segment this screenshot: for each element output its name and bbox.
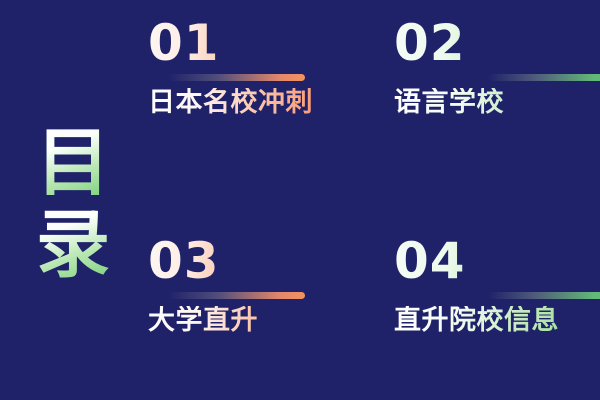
toc-entry-01-rule xyxy=(168,74,305,81)
toc-entry-03-number: 03 xyxy=(148,236,305,286)
toc-entry-01[interactable]: 01 日本名校冲刺 xyxy=(148,18,313,118)
toc-entry-03[interactable]: 03 大学直升 xyxy=(148,236,305,336)
toc-heading: 目 录 xyxy=(18,128,128,281)
toc-entry-02-label: 语言学校 xyxy=(394,88,600,118)
toc-heading-char-2: 录 xyxy=(36,210,110,280)
toc-entry-04-number: 04 xyxy=(394,236,600,286)
toc-entry-03-label: 大学直升 xyxy=(148,306,305,336)
toc-entry-02-rule xyxy=(488,74,600,81)
toc-entry-01-label: 日本名校冲刺 xyxy=(148,88,313,118)
toc-entry-04[interactable]: 04 直升院校信息 xyxy=(394,236,600,336)
toc-entry-03-rule xyxy=(168,292,305,299)
toc-entry-02[interactable]: 02 语言学校 xyxy=(394,18,600,118)
toc-entry-02-number: 02 xyxy=(394,18,600,68)
toc-heading-char-1: 目 xyxy=(36,128,110,198)
toc-entry-04-rule xyxy=(488,292,600,299)
toc-entry-04-label: 直升院校信息 xyxy=(394,306,600,336)
table-of-contents-slide: 目 录 01 日本名校冲刺 02 语言学校 03 大学直升 04 直升院校信息 xyxy=(0,0,600,400)
toc-entry-01-number: 01 xyxy=(148,18,313,68)
